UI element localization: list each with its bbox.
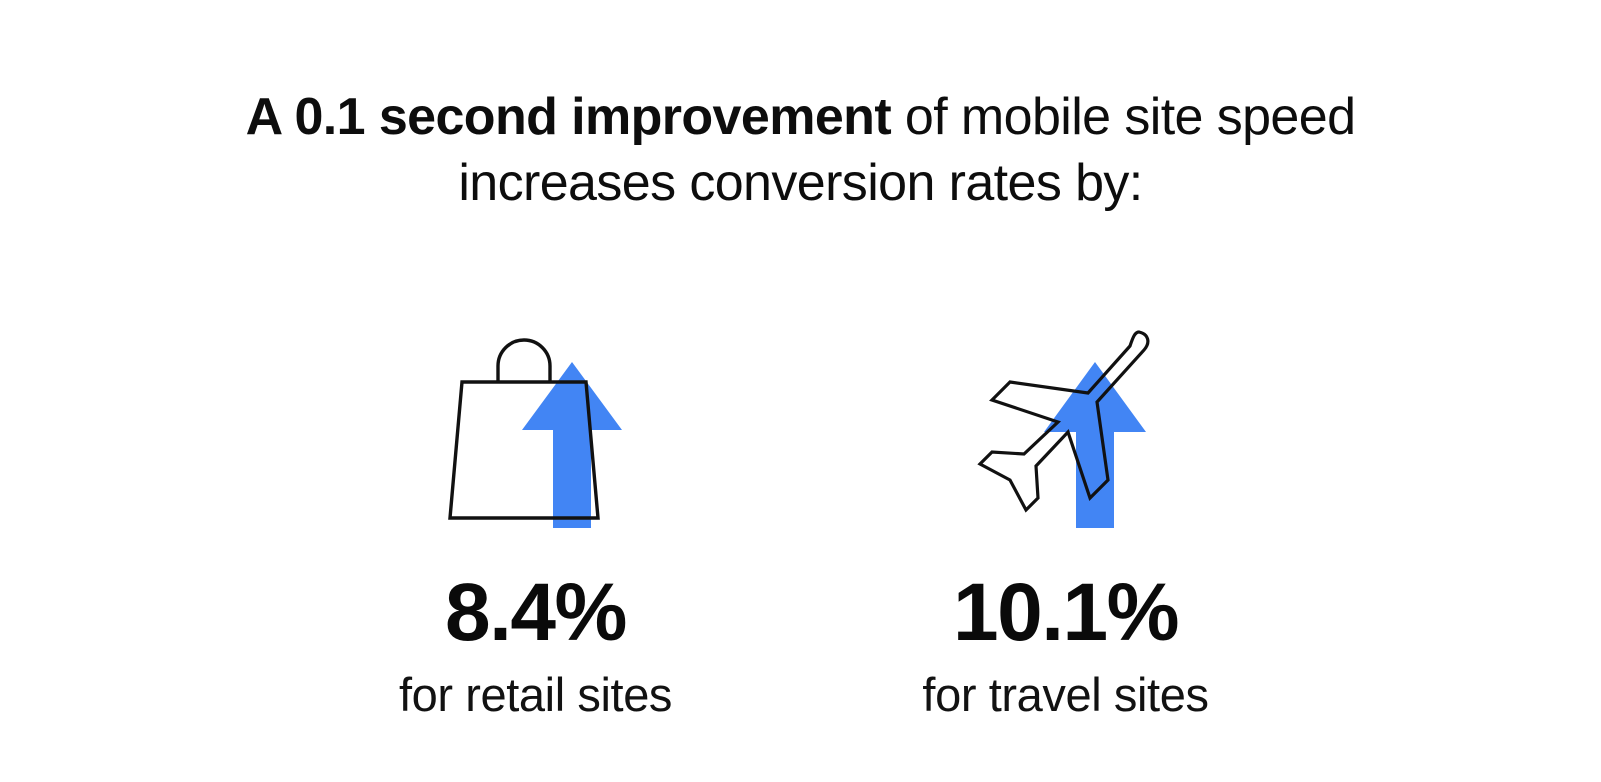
stat-value-travel: 10.1% [953,571,1178,655]
airplane-icon [958,305,1173,535]
stat-caption-retail: for retail sites [399,667,672,723]
headline-emphasis: A 0.1 second improvement [246,88,891,146]
headline-rest-line1: of mobile site speed [891,88,1355,146]
infographic-root: A 0.1 second improvement of mobile site … [0,0,1601,782]
shopping-bag-icon [436,305,636,535]
stat-value-retail: 8.4% [445,571,626,655]
stat-caption-travel: for travel sites [922,667,1208,723]
stat-block-travel: 10.1% for travel sites [856,305,1276,723]
page-title: A 0.1 second improvement of mobile site … [176,84,1426,216]
bag-handle-shape [498,340,550,382]
headline-line2: increases conversion rates by: [458,154,1142,212]
stat-block-retail: 8.4% for retail sites [326,305,746,723]
stats-row: 8.4% for retail sites 10.1% for travel s… [326,305,1276,723]
